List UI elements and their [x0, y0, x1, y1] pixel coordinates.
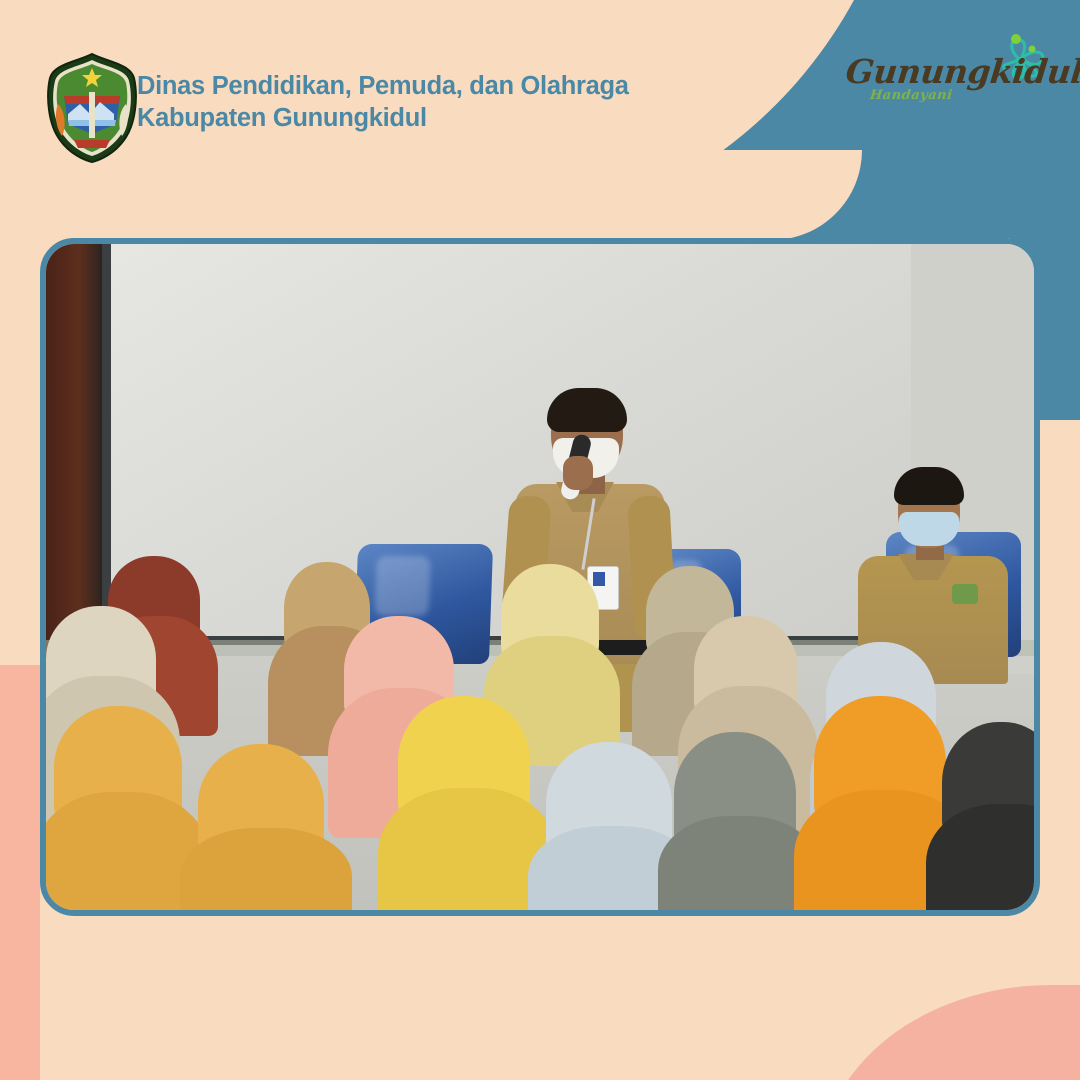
official-shoulder-patch — [952, 584, 978, 604]
title-line-2: Kabupaten Gunungkidul — [137, 102, 629, 134]
wooden-door — [46, 244, 102, 664]
audience-member — [180, 828, 352, 910]
chair-highlight — [374, 556, 430, 616]
brand-wordmark: Gunungkidul — [844, 52, 1080, 91]
official-face-mask — [899, 512, 959, 546]
photo-scene — [46, 244, 1034, 910]
brand-tagline: Handayani — [869, 88, 953, 103]
poster-footer: @dikpora_gk pendidikan.gunungkidulkab.go… — [0, 930, 1080, 1080]
title-line-1: Dinas Pendidikan, Pemuda, dan Olahraga — [137, 72, 629, 100]
official-hair — [894, 467, 964, 505]
socialization-meeting-photo — [40, 238, 1040, 916]
badge-photo — [593, 572, 605, 586]
gunungkidul-brand-logo: Gunungkidul Handayani — [828, 30, 1058, 120]
speaker-hand — [563, 456, 593, 490]
page-title: Dinas Pendidikan, Pemuda, dan Olahraga K… — [137, 70, 629, 134]
gunungkidul-regency-coat-of-arms-icon — [44, 52, 140, 164]
speaker-hair — [547, 388, 627, 432]
poster-canvas: Dinas Pendidikan, Pemuda, dan Olahraga K… — [0, 0, 1080, 1080]
